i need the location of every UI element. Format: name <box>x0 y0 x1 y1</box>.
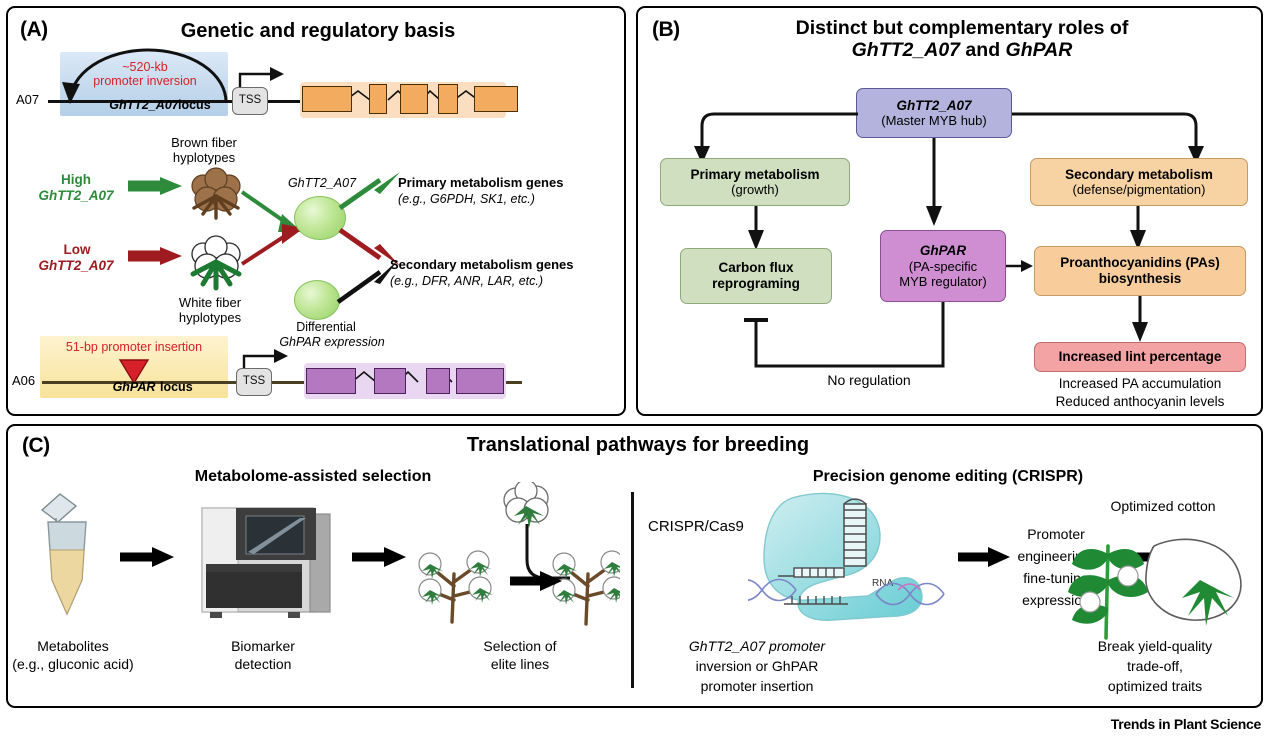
outcome-line1: Increased PA accumulation <box>1024 376 1256 392</box>
pipette-tube-icon <box>26 488 112 628</box>
node-primary-line1: Primary metabolism <box>690 167 819 183</box>
node-ghpar-line2: (PA-specific <box>909 259 977 274</box>
biomarker-caption-line1: Biomarker <box>198 638 328 655</box>
journal-footer: Trends in Plant Science <box>1111 716 1261 732</box>
pa-to-lint-arrow-icon <box>1130 296 1150 344</box>
low-expression-label-line2: GhTT2_A07 <box>26 258 126 274</box>
high-expression-label-line2: GhTT2_A07 <box>26 188 126 204</box>
node-primary-line2: (growth) <box>731 182 779 197</box>
optimized-cotton-icon <box>1060 518 1260 644</box>
arrow-metabolites-to-biomarker-icon <box>120 546 176 568</box>
primary-genes-label-line2: (e.g., G6PDH, SK1, etc.) <box>398 192 535 206</box>
selection-caption-line1: Selection of <box>450 638 590 655</box>
a06-locus-name: GhPAR <box>40 380 228 394</box>
panel-b-title-line1: Distinct but complementary roles of <box>692 18 1232 40</box>
white-fiber-label-line1: White fiber <box>154 296 266 311</box>
insertion-label: 51-bp promoter insertion <box>40 340 228 354</box>
node-ghpar-line3: MYB regulator) <box>899 274 986 289</box>
a06-exon-2 <box>374 368 406 394</box>
primary-to-carbon-arrow-icon <box>746 206 766 252</box>
brown-cotton-boll-icon <box>185 166 247 224</box>
mass-spectrometer-icon <box>188 502 336 622</box>
break-tradeoff-line2: trade-off, <box>1050 658 1260 675</box>
node-primary-metabolism: Primary metabolism (growth) <box>660 158 850 206</box>
a06-exon-1 <box>306 368 356 394</box>
panel-b-title-line2: GhTT2_A07 and GhPAR <box>692 40 1232 62</box>
low-expression-label-line1: Low <box>32 242 122 258</box>
break-tradeoff-line3: optimized traits <box>1050 678 1260 695</box>
panel-c-title: Translational pathways for breeding <box>168 434 1108 456</box>
a06-tss-box: TSS <box>236 368 272 396</box>
a07-exon-3 <box>400 84 428 114</box>
a07-chrom-label: A07 <box>16 93 39 108</box>
panel-b-title: Distinct but complementary roles of GhTT… <box>692 18 1232 62</box>
node-pa-line2: biosynthesis <box>1099 271 1182 287</box>
selection-caption-line2: elite lines <box>450 656 590 673</box>
panel-a-title: Genetic and regulatory basis <box>68 20 568 42</box>
no-regulation-label: No regulation <box>804 372 934 388</box>
brown-fiber-label-line1: Brown fiber <box>150 136 258 151</box>
node-increased-lint: Increased lint percentage <box>1034 342 1246 372</box>
panel-b-title-gene2: GhPAR <box>1006 39 1073 61</box>
a06-exon-4 <box>456 368 504 394</box>
panel-b-letter: (B) <box>652 18 680 42</box>
panel-a: (A) Genetic and regulatory basis A07 ~52… <box>6 6 626 416</box>
node-carbon-line1: Carbon flux <box>718 260 793 276</box>
arrow-biomarker-to-selection-icon <box>352 546 408 568</box>
a06-chrom-label: A06 <box>12 374 35 389</box>
white-fiber-label-line2: hyplotypes <box>154 311 266 326</box>
ghpar-to-pa-arrow-icon <box>1006 258 1034 274</box>
outcome-line2: Reduced anthocyanin levels <box>1024 394 1256 410</box>
node-secondary-line1: Secondary metabolism <box>1065 167 1213 183</box>
a07-exon-1 <box>302 86 352 112</box>
high-expression-label-line1: High <box>30 172 122 188</box>
node-lint-line1: Increased lint percentage <box>1059 349 1222 365</box>
crispr-cas9-label: CRISPR/Cas9 <box>648 518 744 535</box>
metabolites-caption-line1: Metabolites <box>8 638 138 655</box>
crispr-target-line2: inversion or GhPAR <box>642 658 872 675</box>
a06-locus-suffix: locus <box>160 380 193 394</box>
node-ghtt2-hub: GhTT2_A07 (Master MYB hub) <box>856 88 1012 138</box>
a07-exon-4 <box>438 84 458 114</box>
optimized-cotton-label: Optimized cotton <box>1068 498 1258 515</box>
node-ghtt2-hub-line2: (Master MYB hub) <box>881 113 986 128</box>
high-arrow-icon <box>128 176 184 196</box>
panel-a-letter: (A) <box>20 18 48 42</box>
no-regulation-bracket-icon <box>738 302 954 376</box>
arrow-to-elite-lines-icon <box>510 570 564 592</box>
primary-genes-label-line1: Primary metabolism genes <box>398 176 563 191</box>
node-carbon-flux: Carbon flux reprograming <box>680 248 832 304</box>
biomarker-caption-line2: detection <box>198 656 328 673</box>
differential-label-line1: Differential <box>280 320 372 334</box>
crispr-cas9-complex-icon: RNA <box>748 490 958 630</box>
metabolites-caption-line2: (e.g., gluconic acid) <box>8 656 138 673</box>
node-secondary-metabolism: Secondary metabolism (defense/pigmentati… <box>1030 158 1248 206</box>
a06-exon-3 <box>426 368 450 394</box>
node-ghpar: GhPAR (PA-specific MYB regulator) <box>880 230 1006 302</box>
crispr-target-line3: promoter insertion <box>642 678 872 695</box>
inversion-label-line1: ~520-kb <box>66 60 224 74</box>
cotton-plants-selection-icon <box>410 482 620 632</box>
a07-exon-5 <box>474 86 518 112</box>
ghpar-to-secondary-arrow-icon <box>336 258 402 308</box>
panel-b-title-and: and <box>960 39 1006 61</box>
node-ghpar-line1: GhPAR <box>920 243 966 259</box>
panel-c-letter: (C) <box>22 434 50 458</box>
secondary-genes-label-line2: (e.g., DFR, ANR, LAR, etc.) <box>390 274 543 288</box>
a07-locus-suffix: locus <box>178 98 211 112</box>
panel-b-title-gene1: GhTT2_A07 <box>852 39 960 61</box>
a07-exon-2 <box>369 84 387 114</box>
node-pa-biosynthesis: Proanthocyanidins (PAs) biosynthesis <box>1034 246 1246 296</box>
low-arrow-icon <box>128 246 184 266</box>
node-pa-line1: Proanthocyanidins (PAs) <box>1060 255 1220 271</box>
inversion-label-line2: promoter inversion <box>66 74 224 88</box>
white-cotton-boll-icon <box>185 234 247 294</box>
panel-c: (C) Translational pathways for breeding … <box>6 424 1263 708</box>
crispr-target-line1: GhTT2_A07 promoter <box>642 638 872 655</box>
primary-genes-arrow-icon <box>338 168 404 212</box>
break-tradeoff-line1: Break yield-quality <box>1050 638 1260 655</box>
panel-c-right-heading: Precision genome editing (CRISPR) <box>648 468 1248 486</box>
panel-b: (B) Distinct but complementary roles of … <box>636 6 1263 416</box>
secondary-genes-label-line1: Secondary metabolism genes <box>390 258 574 273</box>
hub-to-ghpar-arrow-icon <box>924 138 944 228</box>
brown-fiber-label-line2: hyplotypes <box>150 151 258 166</box>
node-carbon-line2: reprograming <box>712 276 800 292</box>
panel-c-divider <box>631 492 634 688</box>
node-ghtt2-hub-line1: GhTT2_A07 <box>896 98 971 114</box>
node-secondary-line2: (defense/pigmentation) <box>1073 182 1206 197</box>
a07-tss-box: TSS <box>232 87 268 115</box>
nucleus-bottom-icon <box>294 280 340 320</box>
